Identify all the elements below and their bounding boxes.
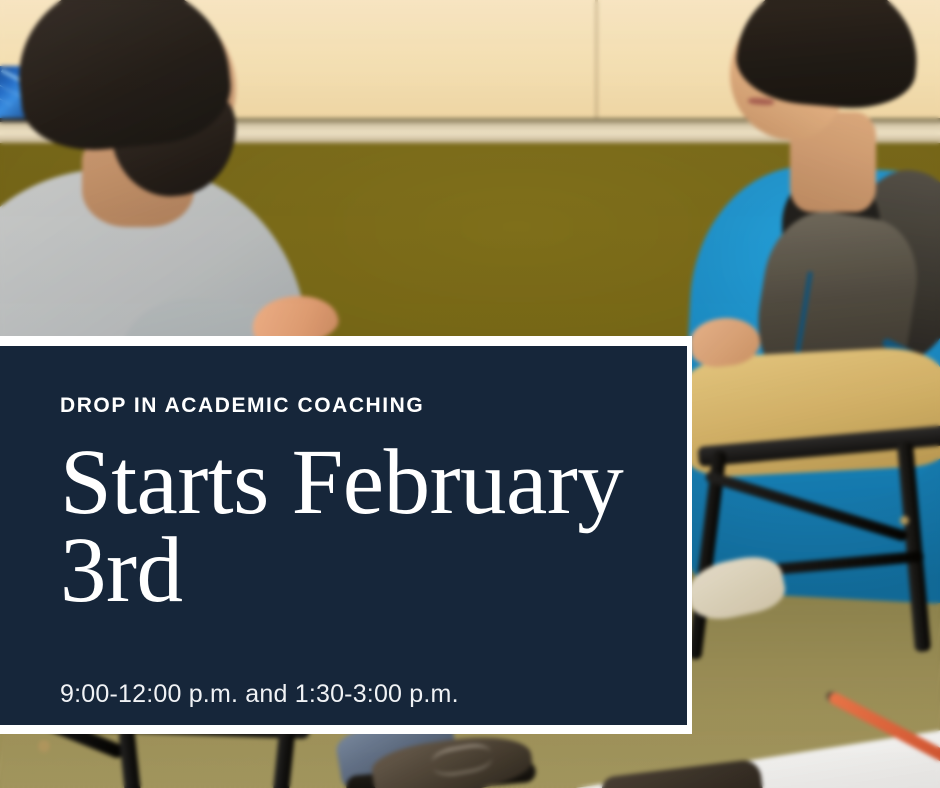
schedule-text: 9:00-12:00 p.m. and 1:30-3:00 p.m. bbox=[60, 680, 663, 709]
overlay-text-card: DROP IN ACADEMIC COACHING Starts Februar… bbox=[0, 346, 687, 725]
kicker-text: DROP IN ACADEMIC COACHING bbox=[60, 394, 663, 417]
promotional-poster: DROP IN ACADEMIC COACHING Starts Februar… bbox=[0, 0, 940, 788]
page-title: Starts February 3rd bbox=[60, 439, 640, 616]
chair-rivet bbox=[900, 516, 909, 525]
overlay-text-group: DROP IN ACADEMIC COACHING Starts Februar… bbox=[60, 394, 663, 709]
foreground-chair-knob bbox=[38, 740, 50, 752]
